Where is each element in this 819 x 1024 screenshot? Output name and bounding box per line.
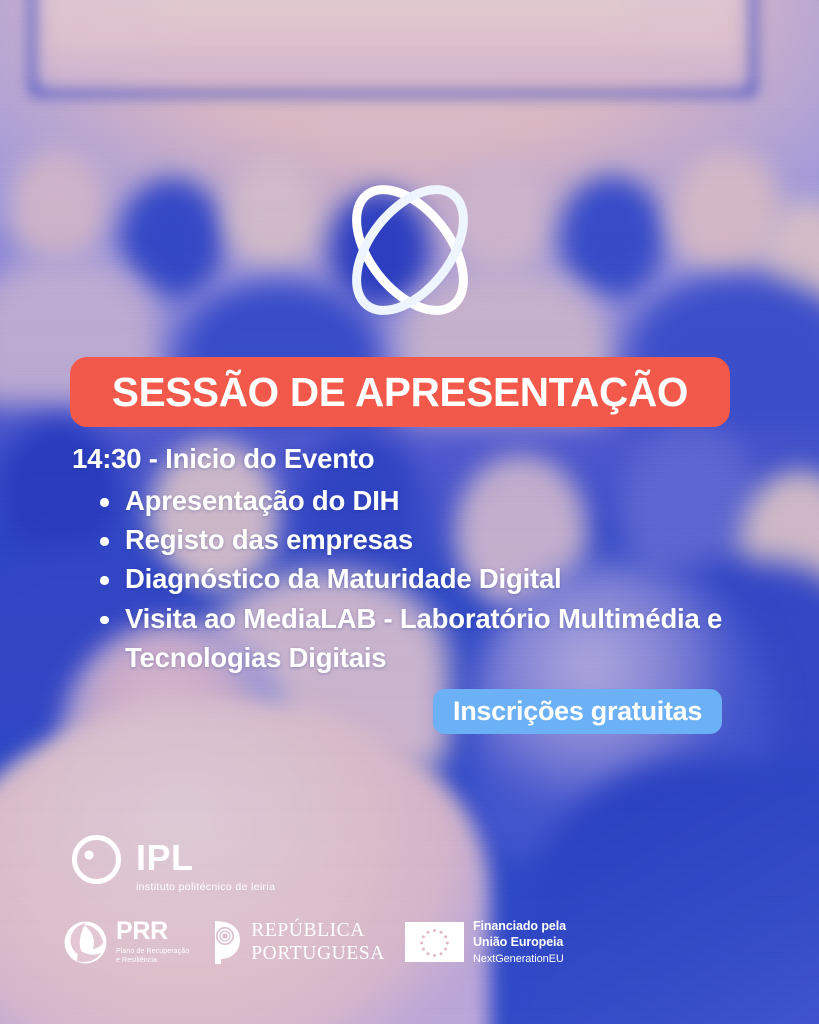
list-item-label: Visita ao MediaLAB - Laboratório Multimé…: [125, 603, 722, 673]
prr-subtitle-line1: Plano de Recuperação: [116, 947, 189, 956]
ipl-name: IPL: [136, 840, 275, 876]
poster: SESSÃO DE APRESENTAÇÃO 14:30 - Inicio do…: [0, 0, 819, 1024]
list-item-label: Apresentação do DIH: [125, 485, 399, 516]
free-registration-badge[interactable]: Inscrições gratuitas: [433, 689, 722, 734]
list-item: Diagnóstico da Maturidade Digital: [72, 559, 762, 598]
poster-content: SESSÃO DE APRESENTAÇÃO 14:30 - Inicio do…: [0, 0, 819, 1024]
eu-line3: NextGenerationEU: [473, 952, 566, 966]
ipl-subtitle: instituto politécnico de leiria: [136, 882, 275, 893]
republica-line1: REPÚBLICA: [251, 919, 385, 942]
schedule-heading: 14:30 - Inicio do Evento: [72, 442, 762, 476]
schedule-list: Apresentação do DIH Registo das empresas…: [72, 481, 762, 676]
ipl-logo: IPL instituto politécnico de leiria: [70, 833, 275, 893]
prr-subtitle-line2: e Resiliência: [116, 956, 189, 965]
prr-name: PRR: [116, 919, 189, 944]
eu-flag-icon: [405, 922, 464, 962]
list-item-label: Registo das empresas: [125, 524, 413, 555]
funding-logos: PRR Plano de Recuperação e Resiliência: [63, 918, 566, 966]
uniao-europeia-wordmark: Financiado pela União Europeia NextGener…: [473, 918, 566, 966]
portugal-shield-icon: [209, 919, 243, 965]
ipl-wordmark: IPL instituto politécnico de leiria: [136, 833, 275, 893]
list-item: Apresentação do DIH: [72, 481, 762, 520]
schedule-block: 14:30 - Inicio do Evento Apresentação do…: [72, 442, 762, 677]
list-item: Visita ao MediaLAB - Laboratório Multimé…: [72, 599, 762, 677]
bullet-dot-icon: [100, 576, 109, 585]
eu-line1: Financiado pela: [473, 918, 566, 934]
title-banner: SESSÃO DE APRESENTAÇÃO: [70, 357, 730, 427]
republica-portuguesa-logo: REPÚBLICA PORTUGUESA: [209, 919, 385, 965]
prr-wordmark: PRR Plano de Recuperação e Resiliência: [116, 919, 189, 966]
bullet-dot-icon: [100, 616, 109, 625]
bullet-dot-icon: [100, 498, 109, 507]
free-registration-label: Inscrições gratuitas: [453, 698, 702, 725]
page-title: SESSÃO DE APRESENTAÇÃO: [112, 372, 688, 413]
list-item-label: Diagnóstico da Maturidade Digital: [125, 563, 562, 594]
republica-portuguesa-wordmark: REPÚBLICA PORTUGUESA: [251, 919, 385, 965]
prr-subtitle: Plano de Recuperação e Resiliência: [116, 947, 189, 966]
eu-line2: União Europeia: [473, 934, 566, 950]
uniao-europeia-logo: Financiado pela União Europeia NextGener…: [405, 918, 566, 966]
republica-line2: PORTUGUESA: [251, 942, 385, 965]
ipl-ring-icon: [70, 833, 123, 886]
dih-atom-logo-icon: [326, 166, 494, 334]
list-item: Registo das empresas: [72, 520, 762, 559]
prr-logo: PRR Plano de Recuperação e Resiliência: [63, 919, 189, 966]
bullet-dot-icon: [100, 537, 109, 546]
prr-circle-icon: [63, 920, 108, 965]
